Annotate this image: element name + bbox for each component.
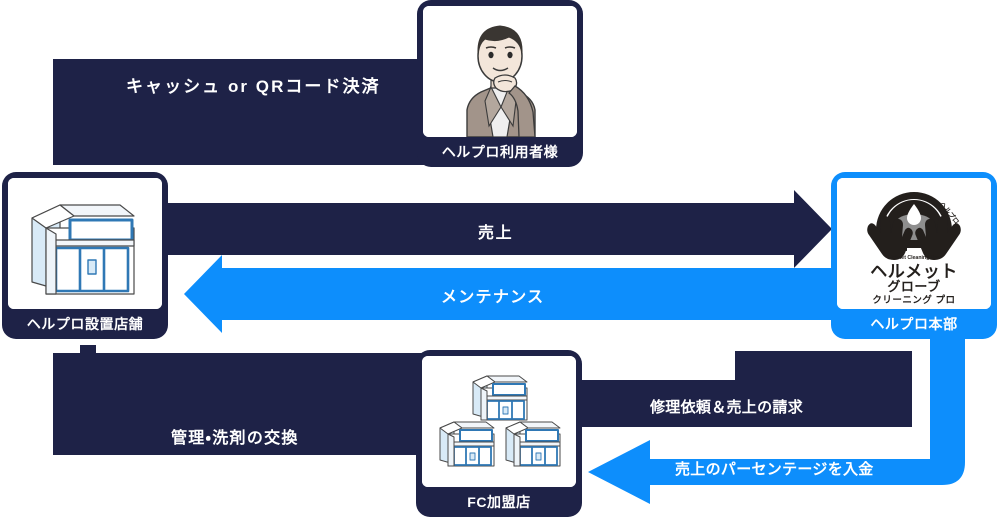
node-label-shop: ヘルプロ設置店舗	[27, 309, 143, 340]
node-label-hq: ヘルプロ本部	[870, 309, 957, 340]
flow-maintenance-arrow	[184, 255, 832, 333]
person-thinking-icon	[423, 6, 577, 137]
svg-text:クリーニング プロ: クリーニング プロ	[872, 294, 955, 306]
node-label-fc: FC加盟店	[467, 487, 530, 518]
three-storefronts-icon	[422, 356, 576, 487]
flow-management-stub	[80, 345, 96, 356]
flow-diagram: キャッシュ or QRコード決済 売上 メンテナンス 管理・洗剤の交換 修理依頼…	[0, 0, 1000, 519]
node-card-shop[interactable]: ヘルプロ設置店舗	[2, 172, 168, 339]
node-card-user[interactable]: ヘルプロ利用者様	[417, 0, 583, 167]
flow-sales-arrow	[168, 190, 832, 268]
logo-tagline: Helmet Cleaning Pro	[889, 255, 940, 261]
node-card-fc[interactable]: FC加盟店	[416, 350, 582, 517]
node-label-user: ヘルプロ利用者様	[442, 137, 558, 168]
node-card-hq[interactable]: Helmet Cleaning Pro ヘルメット グローブ クリーニング プロ…	[831, 172, 997, 339]
helmet-glove-cleaning-pro-logo-icon: Helmet Cleaning Pro ヘルメット グローブ クリーニング プロ…	[837, 178, 991, 309]
flow-repair-band	[582, 351, 912, 427]
storefront-icon	[8, 178, 162, 309]
svg-text:グローブ: グローブ	[887, 279, 940, 294]
